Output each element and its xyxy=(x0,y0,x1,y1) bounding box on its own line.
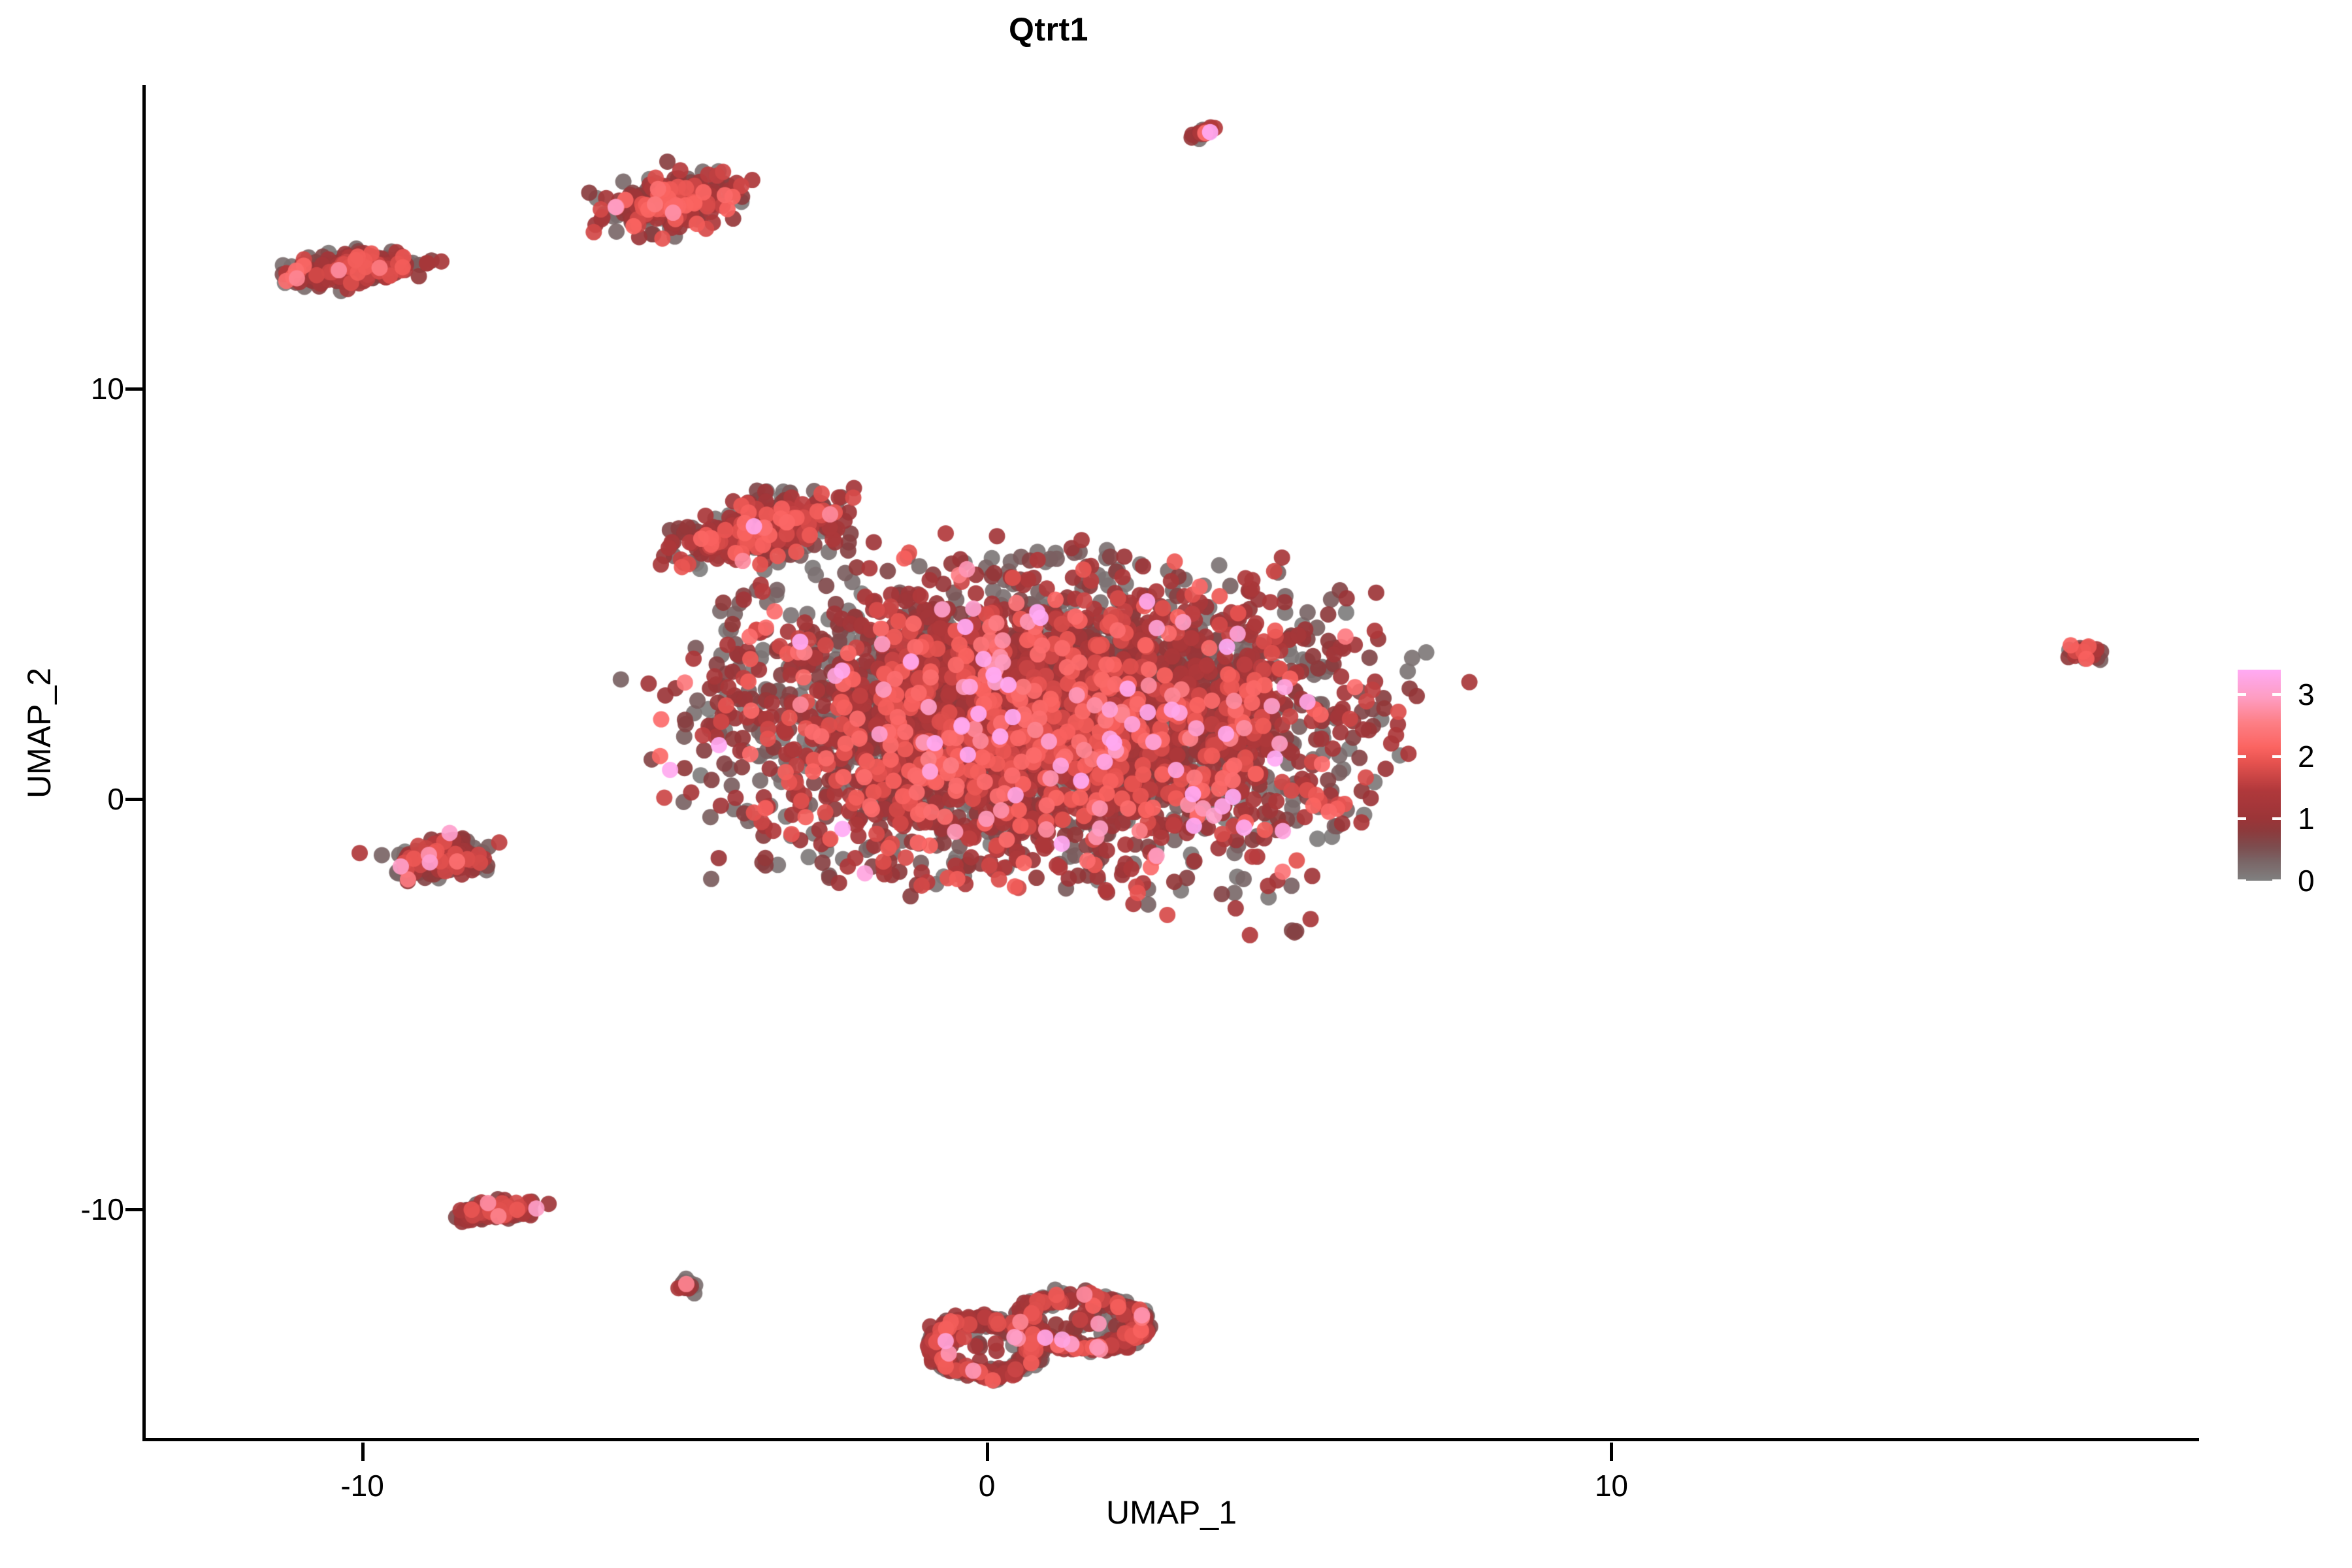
x-tick-mark xyxy=(986,1443,989,1461)
scatter-points-layer xyxy=(144,85,2198,1439)
plot-panel xyxy=(144,85,2198,1439)
colorbar-tick-mark xyxy=(2238,693,2246,696)
colorbar-tick-mark xyxy=(2272,693,2281,696)
y-tick-mark xyxy=(125,1208,144,1211)
colorbar-tick-label: 2 xyxy=(2298,742,2315,772)
colorbar-tick-mark xyxy=(2272,817,2281,820)
y-axis-title: UMAP_2 xyxy=(23,341,56,1125)
x-axis-title: UMAP_1 xyxy=(144,1496,2199,1529)
colorbar-tick-label: 1 xyxy=(2298,804,2315,834)
colorbar-legend: 0123 xyxy=(2238,670,2349,885)
y-axis-line xyxy=(142,85,146,1441)
x-tick-mark xyxy=(361,1443,365,1461)
colorbar-tick-label: 3 xyxy=(2298,679,2315,710)
colorbar-tick-mark xyxy=(2238,817,2246,820)
x-axis-line xyxy=(144,1438,2199,1441)
y-tick-mark xyxy=(125,798,144,801)
y-tick-label: 0 xyxy=(107,784,124,814)
colorbar-tick-mark xyxy=(2272,755,2281,758)
x-tick-mark xyxy=(1610,1443,1613,1461)
colorbar-tick-mark xyxy=(2238,755,2246,758)
y-tick-label: 10 xyxy=(91,374,124,404)
colorbar-tick-label: 0 xyxy=(2298,866,2315,896)
page-title: Qtrt1 xyxy=(0,13,2097,46)
y-tick-label: -10 xyxy=(81,1194,124,1224)
colorbar-tick-mark xyxy=(2272,879,2281,882)
colorbar-gradient xyxy=(2238,670,2281,881)
colorbar-tick-mark xyxy=(2238,879,2246,882)
scatter-plot-figure: Qtrt1 -10010 -10010 UMAP_1 UMAP_2 0123 xyxy=(0,0,2352,1568)
y-tick-mark xyxy=(125,387,144,391)
